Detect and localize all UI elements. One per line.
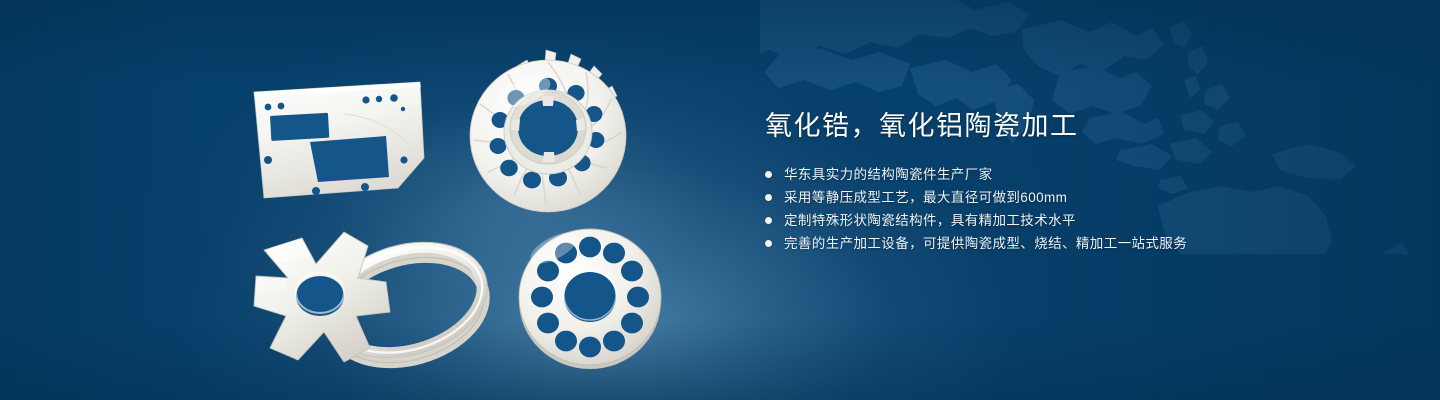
ceramic-impeller — [458, 48, 638, 224]
bullet-dot-icon — [765, 217, 772, 224]
list-item-label: 华东具实力的结构陶瓷件生产厂家 — [784, 163, 993, 186]
ceramic-cross-part — [254, 232, 390, 362]
banner-copy: 氧化锆，氧化铝陶瓷加工 华东具实力的结构陶瓷件生产厂家 采用等静压成型工艺，最大… — [763, 106, 1383, 255]
bullet-dot-icon — [765, 194, 772, 201]
list-item-label: 采用等静压成型工艺，最大直径可做到600mm — [784, 186, 1067, 209]
ceramic-hole-disc — [510, 222, 670, 372]
promo-banner: 氧化锆，氧化铝陶瓷加工 华东具实力的结构陶瓷件生产厂家 采用等静压成型工艺，最大… — [0, 0, 1440, 400]
list-item: 采用等静压成型工艺，最大直径可做到600mm — [763, 186, 1383, 209]
page-title: 氧化锆，氧化铝陶瓷加工 — [765, 106, 1383, 146]
list-item: 华东具实力的结构陶瓷件生产厂家 — [763, 163, 1383, 186]
bullet-dot-icon — [765, 240, 772, 247]
feature-list: 华东具实力的结构陶瓷件生产厂家 采用等静压成型工艺，最大直径可做到600mm 定… — [763, 163, 1383, 255]
ceramic-plate — [248, 80, 428, 210]
list-item: 完善的生产加工设备，可提供陶瓷成型、烧结、精加工一站式服务 — [763, 232, 1383, 255]
list-item: 定制特殊形状陶瓷结构件，具有精加工技术水平 — [763, 209, 1383, 232]
ceramic-cross-and-rings — [240, 220, 510, 370]
product-photo-group — [230, 40, 710, 370]
bullet-dot-icon — [765, 171, 772, 178]
list-item-label: 定制特殊形状陶瓷结构件，具有精加工技术水平 — [784, 209, 1076, 232]
list-item-label: 完善的生产加工设备，可提供陶瓷成型、烧结、精加工一站式服务 — [784, 232, 1187, 255]
